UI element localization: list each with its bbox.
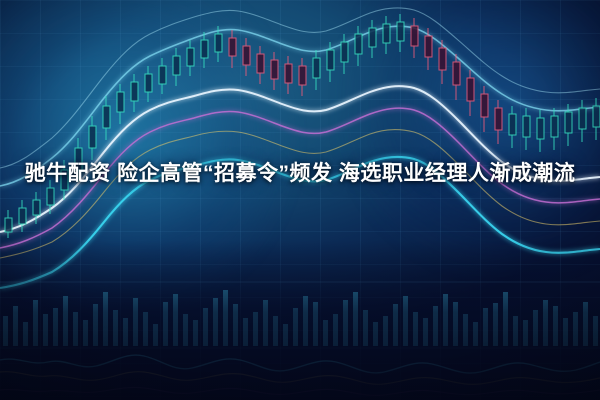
bottom-shadow-overlay <box>0 240 600 400</box>
headline-text: 驰牛配资 险企高管“招募令”频发 海选职业经理人渐成潮流 <box>0 155 600 192</box>
image-canvas: 驰牛配资 险企高管“招募令”频发 海选职业经理人渐成潮流 <box>0 0 600 400</box>
